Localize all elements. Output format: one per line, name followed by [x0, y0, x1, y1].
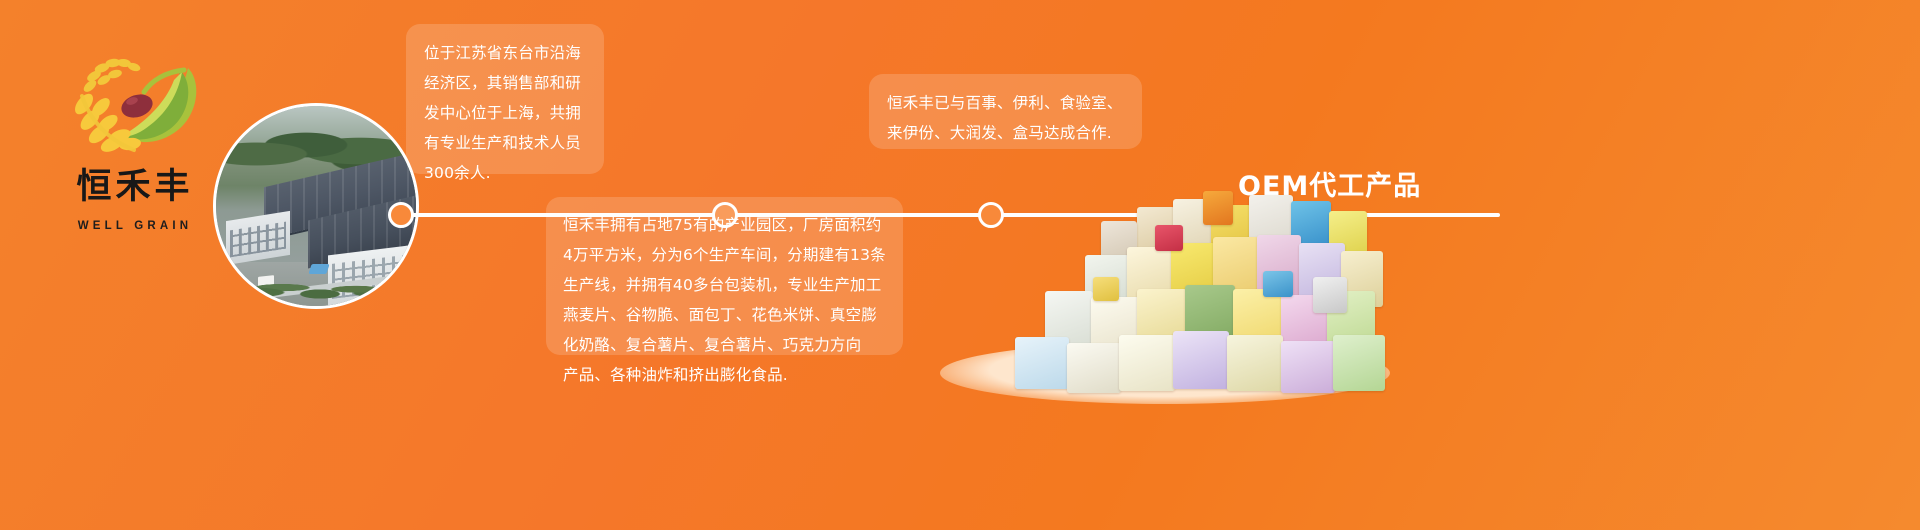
- info-bubble-location: 位于江苏省东台市沿海 经济区，其销售部和研 发中心位于上海，共拥 有专业生产和技…: [406, 24, 604, 174]
- brand-logo-block: 恒禾丰 WELL GRAIN: [42, 44, 228, 224]
- product-pack: [1015, 337, 1069, 389]
- bubble-line: 生产线，并拥有40多台包装机，专业生产加工: [563, 270, 889, 300]
- bubble-line: 经济区，其销售部和研: [424, 68, 588, 98]
- product-pack: [1313, 277, 1347, 313]
- product-pile: [905, 185, 1425, 390]
- info-bubble-partners: 恒禾丰已与百事、伊利、食验室、 来伊份、大润发、盒马达成合作.: [869, 74, 1142, 149]
- bubble-line: 恒禾丰已与百事、伊利、食验室、: [887, 88, 1126, 118]
- bubble-line: 4万平方米，分为6个生产车间，分期建有13条: [563, 240, 889, 270]
- bubble-line: 化奶酪、复合薯片、复合薯片、巧克力方向: [563, 330, 889, 360]
- factory-aerial-photo: [213, 103, 419, 309]
- product-pack: [1203, 191, 1233, 225]
- bubble-line: 产品、各种油炸和挤出膨化食品.: [563, 360, 889, 390]
- bubble-line: 发中心位于上海，共拥: [424, 98, 588, 128]
- product-pack: [1281, 341, 1335, 393]
- product-pack: [1227, 335, 1283, 391]
- brand-name-cn: 恒禾丰: [42, 170, 228, 205]
- bubble-line: 位于江苏省东台市沿海: [424, 38, 588, 68]
- product-pack: [1093, 277, 1119, 301]
- bubble-line: 有专业生产和技术人员: [424, 128, 588, 158]
- wheat-heart-logo-icon: [60, 44, 210, 162]
- oem-snack-products-photo: [905, 185, 1425, 400]
- info-bubble-facility: 恒禾丰拥有占地75有的产业园区，厂房面积约 4万平方米，分为6个生产车间，分期建…: [546, 197, 903, 355]
- product-pack: [1263, 271, 1293, 297]
- photo-bushes: [216, 270, 416, 302]
- product-pack: [1173, 331, 1229, 389]
- bubble-line: 燕麦片、谷物脆、面包丁、花色米饼、真空膨: [563, 300, 889, 330]
- banner-root: 恒禾丰 WELL GRAIN 位于江苏省东台市沿海 经济区，其销售部和研 发中心…: [0, 0, 1920, 530]
- bubble-line: 来伊份、大润发、盒马达成合作.: [887, 118, 1126, 148]
- bubble-line: 300余人.: [424, 158, 588, 188]
- brand-name-en: WELL GRAIN: [42, 220, 228, 232]
- product-pack: [1067, 343, 1121, 393]
- product-pack: [1155, 225, 1183, 251]
- product-pack: [1333, 335, 1385, 391]
- product-pack: [1119, 335, 1175, 391]
- bubble-line: 恒禾丰拥有占地75有的产业园区，厂房面积约: [563, 210, 889, 240]
- timeline-node-1[interactable]: [388, 202, 414, 228]
